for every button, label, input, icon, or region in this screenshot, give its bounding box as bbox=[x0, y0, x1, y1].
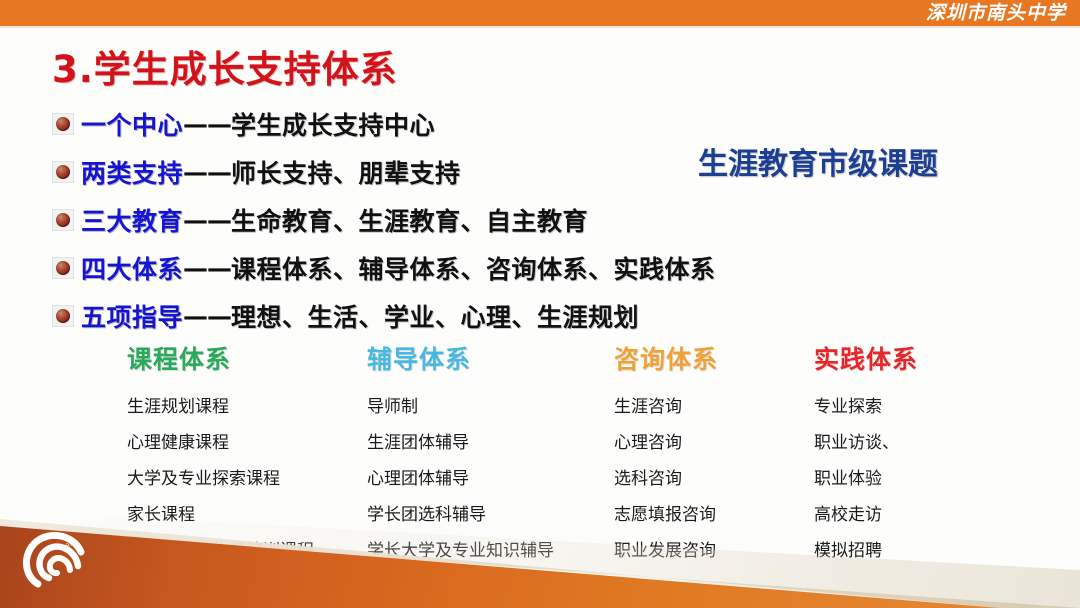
list-item: 四大体系 —— 课程体系、辅导体系、咨询体系、实践体系 bbox=[52, 244, 672, 292]
column-header: 实践体系 bbox=[812, 345, 1012, 375]
bullet-key: 一个中心 bbox=[81, 106, 183, 142]
support-systems-table: 课程体系 生涯规划课程 心理健康课程 大学及专业探索课程 家长课程 教师心理及生… bbox=[120, 345, 1060, 605]
column-curriculum-system: 课程体系 生涯规划课程 心理健康课程 大学及专业探索课程 家长课程 教师心理及生… bbox=[120, 345, 365, 605]
column-item: 教师心理及生涯培训课程 bbox=[120, 533, 365, 569]
sphere-bullet-icon bbox=[52, 257, 74, 279]
school-name: 深圳市南头中学 bbox=[926, 1, 1066, 25]
side-highlight-note: 生涯教育市级课题 bbox=[698, 146, 938, 184]
column-header: 辅导体系 bbox=[365, 345, 612, 375]
bullet-key: 四大体系 bbox=[81, 250, 183, 286]
bullet-key: 三大教育 bbox=[81, 202, 183, 238]
column-item: 心理团体辅导 bbox=[365, 461, 612, 497]
slide-canvas: 深圳市南头中学 3.学生成长支持体系 一个中心 —— 学生成长支持中心 两类支持… bbox=[0, 0, 1080, 608]
column-item: 生涯规划课程 bbox=[120, 389, 365, 425]
page-title: 3.学生成长支持体系 bbox=[52, 48, 398, 92]
sphere-bullet-icon bbox=[52, 113, 74, 135]
bullet-value: 课程体系、辅导体系、咨询体系、实践体系 bbox=[231, 250, 716, 286]
column-item: 职业发展咨询 bbox=[612, 533, 812, 569]
column-item: 选科咨询 bbox=[612, 461, 812, 497]
column-practice-system: 实践体系 专业探索 职业访谈、 职业体验 高校走访 模拟招聘 bbox=[812, 345, 1012, 605]
header-band bbox=[0, 0, 1080, 26]
column-item: 模拟招聘 bbox=[812, 533, 1012, 569]
bullet-dash: —— bbox=[183, 254, 231, 283]
bullet-dash: —— bbox=[183, 158, 231, 187]
bullet-dash: —— bbox=[183, 206, 231, 235]
column-tutoring-system: 辅导体系 导师制 生涯团体辅导 心理团体辅导 学长团选科辅导 学长大学及专业知识… bbox=[365, 345, 612, 605]
bullet-key: 两类支持 bbox=[81, 154, 183, 190]
header-band-shadow bbox=[0, 26, 1080, 29]
column-item: 大学及专业探索课程 bbox=[120, 461, 365, 497]
bullet-dash: —— bbox=[183, 110, 231, 139]
sphere-bullet-icon bbox=[52, 209, 74, 231]
column-header: 课程体系 bbox=[120, 345, 365, 375]
column-item: 生涯咨询 bbox=[612, 389, 812, 425]
column-item: 导师制 bbox=[365, 389, 612, 425]
sphere-bullet-icon bbox=[52, 305, 74, 327]
column-item: 家长课程 bbox=[120, 497, 365, 533]
bullet-key: 五项指导 bbox=[81, 298, 183, 334]
column-item: 心理健康课程 bbox=[120, 425, 365, 461]
bullet-list: 一个中心 —— 学生成长支持中心 两类支持 —— 师长支持、朋辈支持 三大教育 … bbox=[52, 100, 672, 340]
column-item: 学长团选科辅导 bbox=[365, 497, 612, 533]
column-item: 家长生涯辅导 bbox=[365, 569, 612, 605]
column-item: 职业访谈、 bbox=[812, 425, 1012, 461]
swirl-logo-icon: 1928 bbox=[18, 526, 92, 600]
bullet-value: 理想、生活、学业、心理、生涯规划 bbox=[231, 298, 639, 334]
list-item: 三大教育 —— 生命教育、生涯教育、自主教育 bbox=[52, 196, 672, 244]
list-item: 五项指导 —— 理想、生活、学业、心理、生涯规划 bbox=[52, 292, 672, 340]
list-item: 两类支持 —— 师长支持、朋辈支持 bbox=[52, 148, 672, 196]
column-item: 专业探索 bbox=[812, 389, 1012, 425]
column-item: 职业体验 bbox=[812, 461, 1012, 497]
list-item: 一个中心 —— 学生成长支持中心 bbox=[52, 100, 672, 148]
column-item: 学长大学及专业知识辅导 bbox=[365, 533, 612, 569]
column-header: 咨询体系 bbox=[612, 345, 812, 375]
bullet-value: 师长支持、朋辈支持 bbox=[231, 154, 461, 190]
column-counseling-system: 咨询体系 生涯咨询 心理咨询 选科咨询 志愿填报咨询 职业发展咨询 bbox=[612, 345, 812, 605]
column-item: 生涯团体辅导 bbox=[365, 425, 612, 461]
column-item: 志愿填报咨询 bbox=[612, 497, 812, 533]
column-item: 高校走访 bbox=[812, 497, 1012, 533]
bullet-value: 学生成长支持中心 bbox=[231, 106, 435, 142]
sphere-bullet-icon bbox=[52, 161, 74, 183]
bullet-dash: —— bbox=[183, 302, 231, 331]
bullet-value: 生命教育、生涯教育、自主教育 bbox=[231, 202, 588, 238]
column-item: 心理咨询 bbox=[612, 425, 812, 461]
